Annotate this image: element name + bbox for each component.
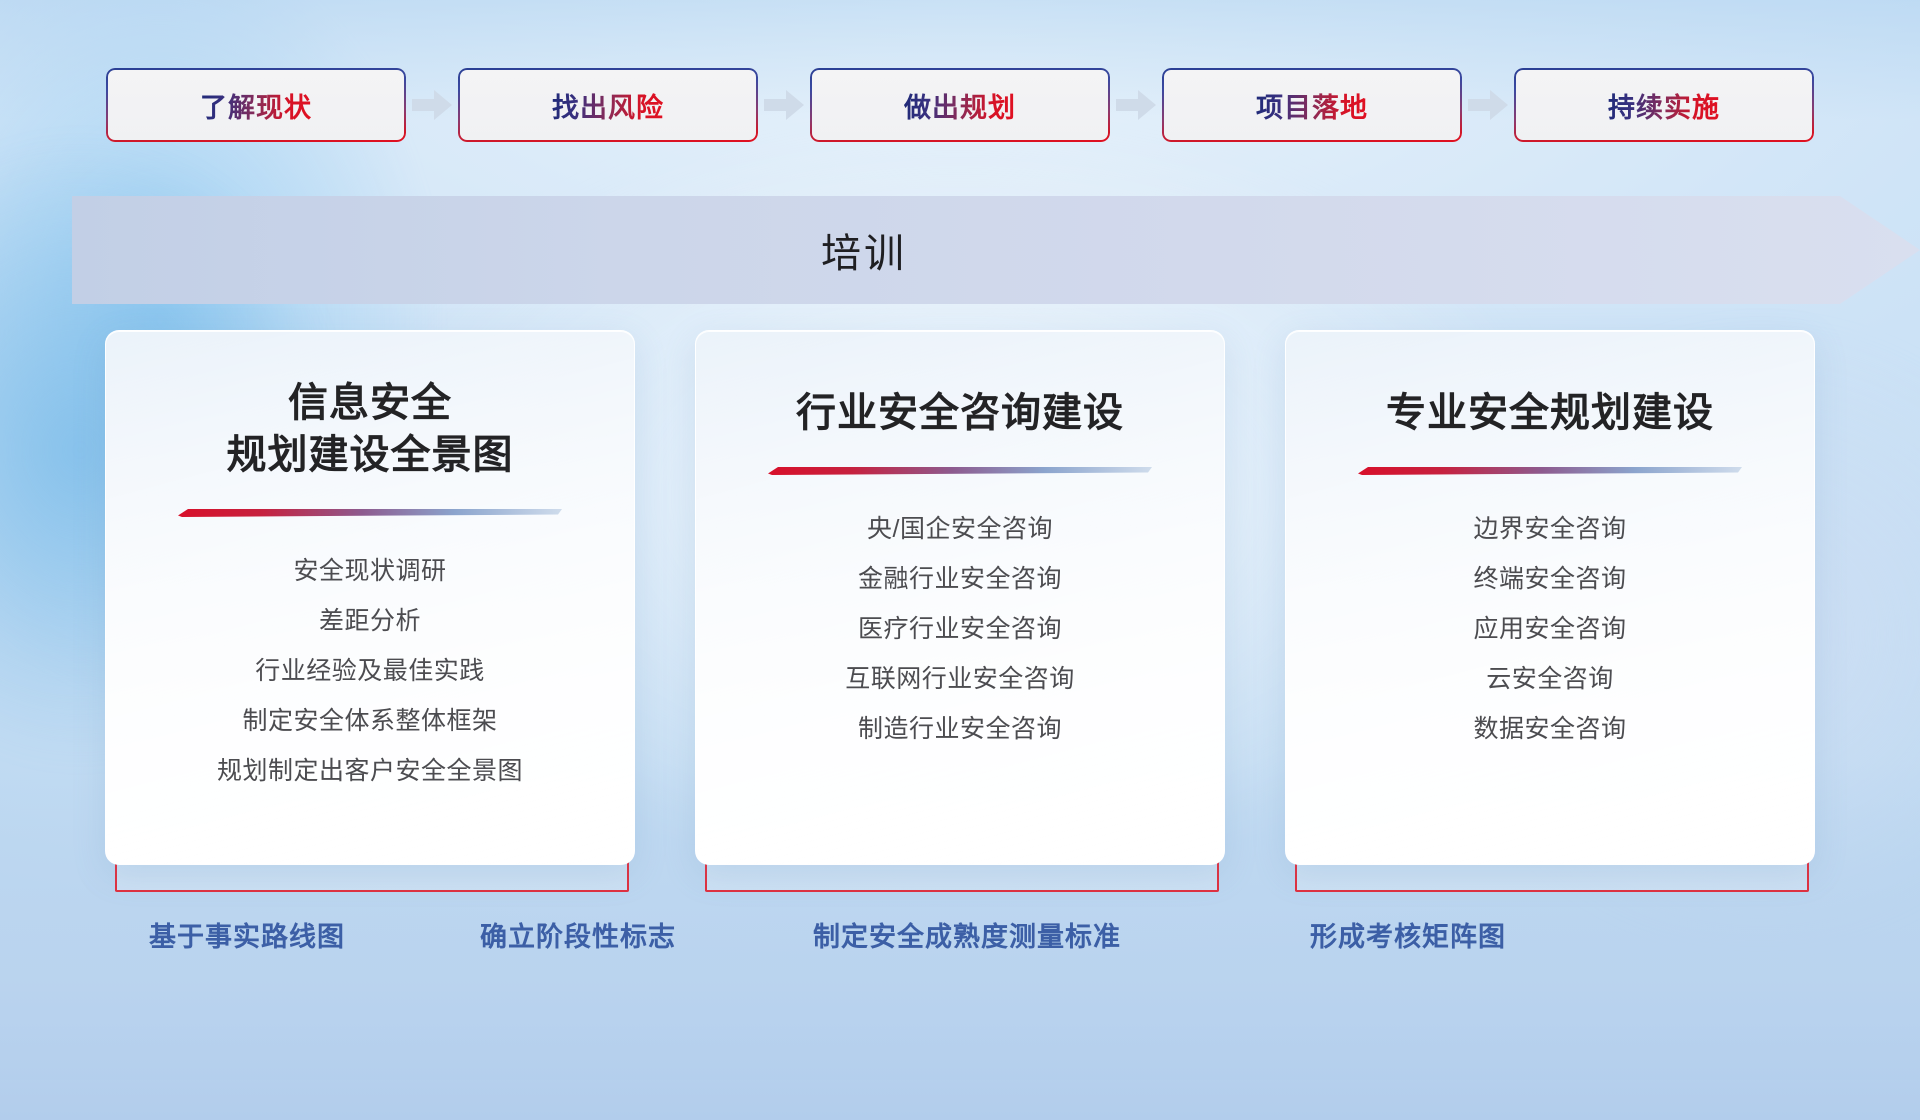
list-item: 边界安全咨询 xyxy=(1473,510,1626,548)
card-slot-3: 专业安全规划建设 边界安全咨询 xyxy=(1285,330,1815,890)
list-item: 央/国企安全咨询 xyxy=(867,510,1053,548)
footer-label-2: 确立阶段性标志 xyxy=(480,915,676,954)
card-title: 信息安全 规划建设全景图 xyxy=(227,377,514,481)
card-divider xyxy=(768,465,1152,476)
step-label: 了解现状 xyxy=(200,86,312,125)
list-item: 应用安全咨询 xyxy=(1473,610,1626,648)
step-arrow-icon-3 xyxy=(1110,68,1162,142)
card-row: 信息安全 规划建设全景图 安全现状调研 xyxy=(0,330,1920,890)
list-item: 安全现状调研 xyxy=(293,552,446,590)
card-3[interactable]: 专业安全规划建设 边界安全咨询 xyxy=(1285,330,1815,865)
footer-label-3: 制定安全成熟度测量标准 xyxy=(813,915,1121,954)
list-item: 数据安全咨询 xyxy=(1473,710,1626,748)
card-title: 专业安全规划建设 xyxy=(1386,387,1714,439)
card-list: 边界安全咨询 终端安全咨询 应用安全咨询 云安全咨询 数据安全咨询 xyxy=(1286,510,1814,748)
card-2[interactable]: 行业安全咨询建设 央/国企安全咨询 xyxy=(695,330,1225,865)
card-title: 行业安全咨询建设 xyxy=(796,387,1124,439)
step-arrow-icon-2 xyxy=(758,68,810,142)
list-item: 规划制定出客户安全全景图 xyxy=(217,752,523,790)
list-item: 云安全咨询 xyxy=(1486,660,1614,698)
footer-label-1: 基于事实路线图 xyxy=(149,915,345,954)
card-divider xyxy=(178,507,562,518)
footer-label-row: 基于事实路线图 确立阶段性标志 制定安全成熟度测量标准 形成考核矩阵图 xyxy=(0,915,1920,975)
list-item: 医疗行业安全咨询 xyxy=(858,610,1062,648)
card-list: 央/国企安全咨询 金融行业安全咨询 医疗行业安全咨询 互联网行业安全咨询 制造行… xyxy=(696,510,1224,748)
list-item: 制造行业安全咨询 xyxy=(858,710,1062,748)
list-item: 差距分析 xyxy=(319,602,421,640)
list-item: 金融行业安全咨询 xyxy=(858,560,1062,598)
step-label: 找出风险 xyxy=(552,86,664,125)
step-label: 做出规划 xyxy=(904,86,1016,125)
card-1[interactable]: 信息安全 规划建设全景图 安全现状调研 xyxy=(105,330,635,865)
step-item-1[interactable]: 了解现状 xyxy=(106,68,406,142)
card-slot-2: 行业安全咨询建设 央/国企安全咨询 xyxy=(695,330,1225,890)
card-divider xyxy=(1358,465,1742,476)
step-item-5[interactable]: 持续实施 xyxy=(1514,68,1814,142)
card-slot-1: 信息安全 规划建设全景图 安全现状调研 xyxy=(105,330,635,890)
step-item-3[interactable]: 做出规划 xyxy=(810,68,1110,142)
step-item-4[interactable]: 项目落地 xyxy=(1162,68,1462,142)
step-label: 项目落地 xyxy=(1256,86,1368,125)
step-arrow-icon-4 xyxy=(1462,68,1514,142)
list-item: 制定安全体系整体框架 xyxy=(242,702,497,740)
training-band-label: 培训 xyxy=(821,221,907,279)
step-item-2[interactable]: 找出风险 xyxy=(458,68,758,142)
step-arrow-icon-1 xyxy=(406,68,458,142)
footer-label-4: 形成考核矩阵图 xyxy=(1310,915,1506,954)
card-list: 安全现状调研 差距分析 行业经验及最佳实践 制定安全体系整体框架 规划制定出客户… xyxy=(106,552,634,790)
step-label: 持续实施 xyxy=(1608,86,1720,125)
list-item: 互联网行业安全咨询 xyxy=(845,660,1075,698)
list-item: 终端安全咨询 xyxy=(1473,560,1626,598)
training-band-wrapper: 培训 xyxy=(0,196,1920,304)
process-step-row: 了解现状 找出风险 做出规划 项目落地 持续实施 xyxy=(0,68,1920,142)
training-band-label-wrapper: 培训 xyxy=(0,196,1848,304)
list-item: 行业经验及最佳实践 xyxy=(255,652,485,690)
